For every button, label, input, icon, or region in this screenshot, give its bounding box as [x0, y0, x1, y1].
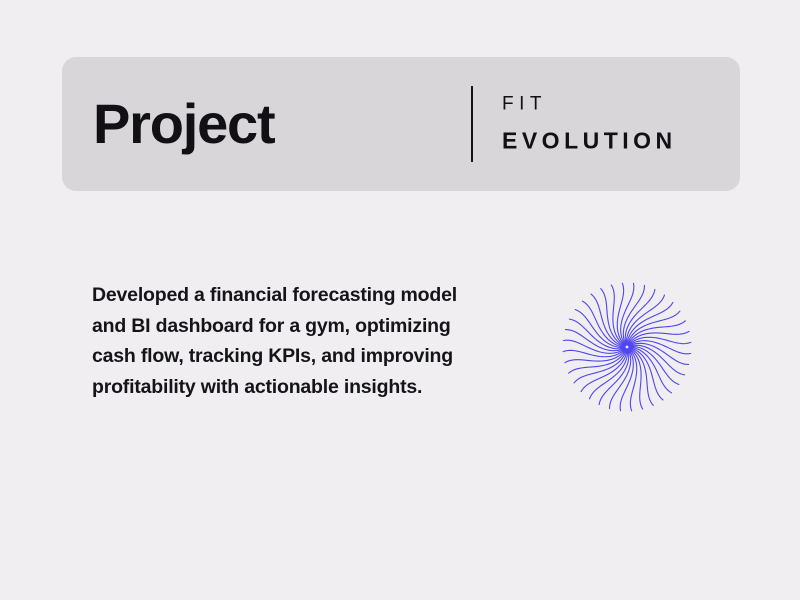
header-bar: Project FIT EVOLUTION [62, 57, 740, 191]
spiral-burst-icon [552, 272, 702, 422]
slide-canvas: Project FIT EVOLUTION Developed a financ… [0, 0, 800, 600]
page-title: Project [93, 96, 274, 152]
header-divider [471, 86, 473, 162]
brand-line-one: FIT [502, 91, 677, 120]
brand-lockup: FIT EVOLUTION [502, 91, 677, 158]
brand-line-two: EVOLUTION [502, 123, 677, 158]
body-paragraph: Developed a financial forecasting model … [92, 280, 492, 402]
